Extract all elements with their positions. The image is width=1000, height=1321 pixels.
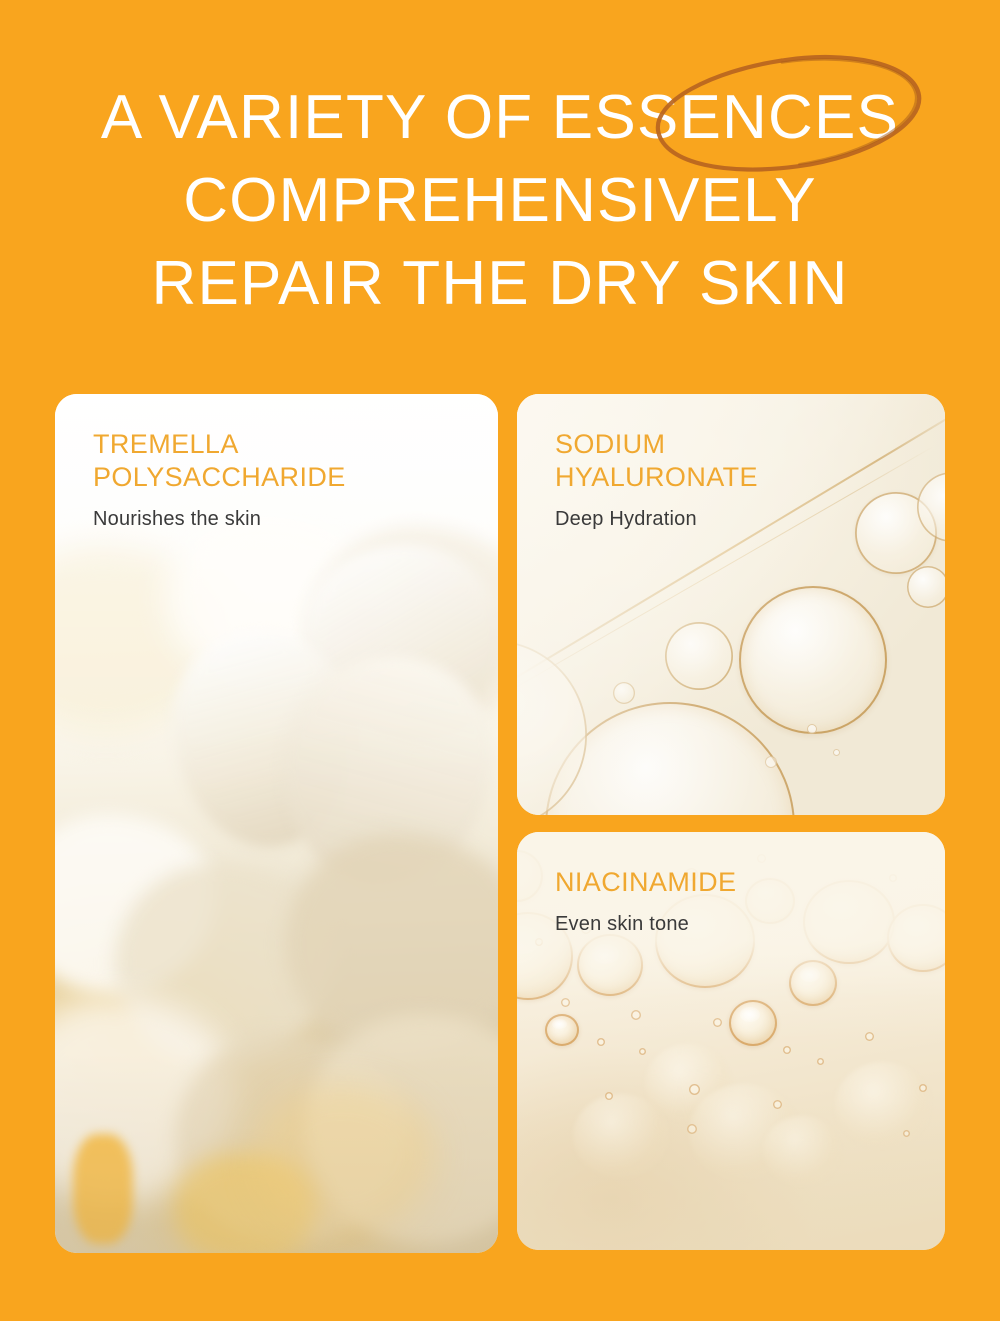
niacinamide-subtitle: Even skin tone [555,911,736,937]
tremella-title: TREMELLA POLYSACCHARIDE [93,428,346,494]
headline-block: A VARIETY OF ESSENCES COMPREHENSIVELY RE… [0,76,1000,325]
niacinamide-card-text: NIACINAMIDE Even skin tone [555,866,736,937]
niacinamide-title: NIACINAMIDE [555,866,736,899]
poster-canvas: A VARIETY OF ESSENCES COMPREHENSIVELY RE… [0,0,1000,1321]
tremella-subtitle: Nourishes the skin [93,506,346,532]
hyaluronate-subtitle: Deep Hydration [555,506,758,532]
tremella-card-text: TREMELLA POLYSACCHARIDE Nourishes the sk… [93,428,346,532]
headline-line-3: REPAIR THE DRY SKIN [0,242,1000,325]
ingredient-card-hyaluronate[interactable]: SODIUM HYALURONATE Deep Hydration [517,394,945,815]
headline-line-1: A VARIETY OF ESSENCES [0,76,1000,159]
hyaluronate-card-text: SODIUM HYALURONATE Deep Hydration [555,428,758,532]
headline-line-2: COMPREHENSIVELY [0,159,1000,242]
ingredient-card-niacinamide[interactable]: NIACINAMIDE Even skin tone [517,832,945,1250]
ingredient-card-tremella[interactable]: TREMELLA POLYSACCHARIDE Nourishes the sk… [55,394,498,1253]
hyaluronate-title: SODIUM HYALURONATE [555,428,758,494]
